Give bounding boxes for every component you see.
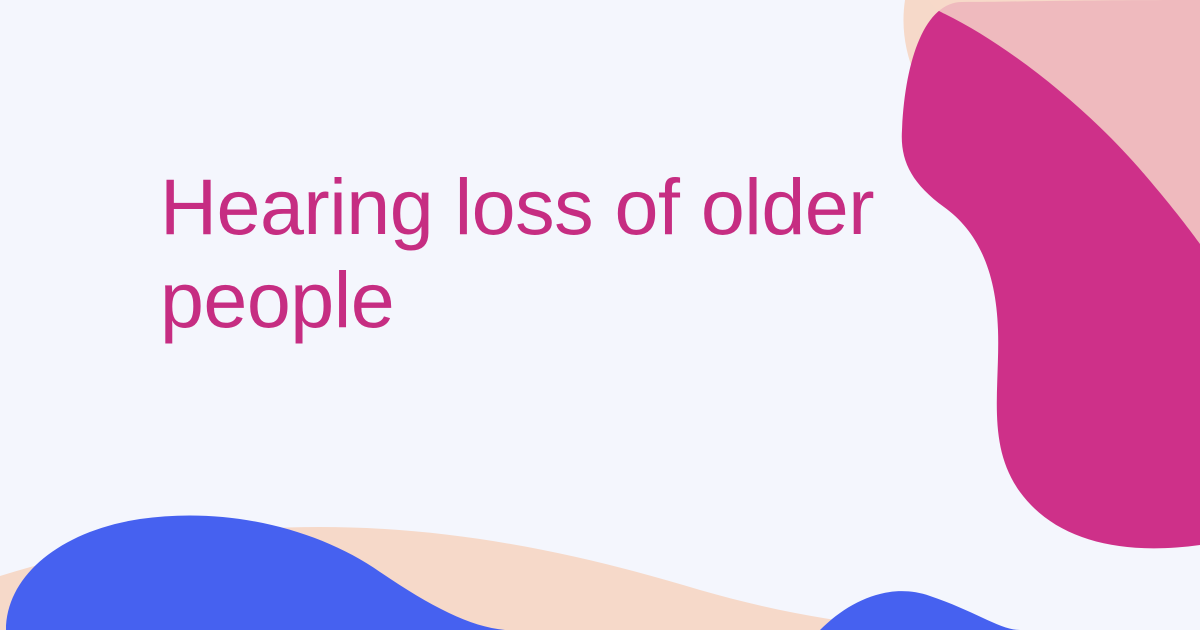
blue-blob-bottom-right-shape <box>820 591 1020 630</box>
social-share-card: Hearing loss of older people <box>0 0 1200 630</box>
page-title: Hearing loss of older people <box>160 160 920 346</box>
